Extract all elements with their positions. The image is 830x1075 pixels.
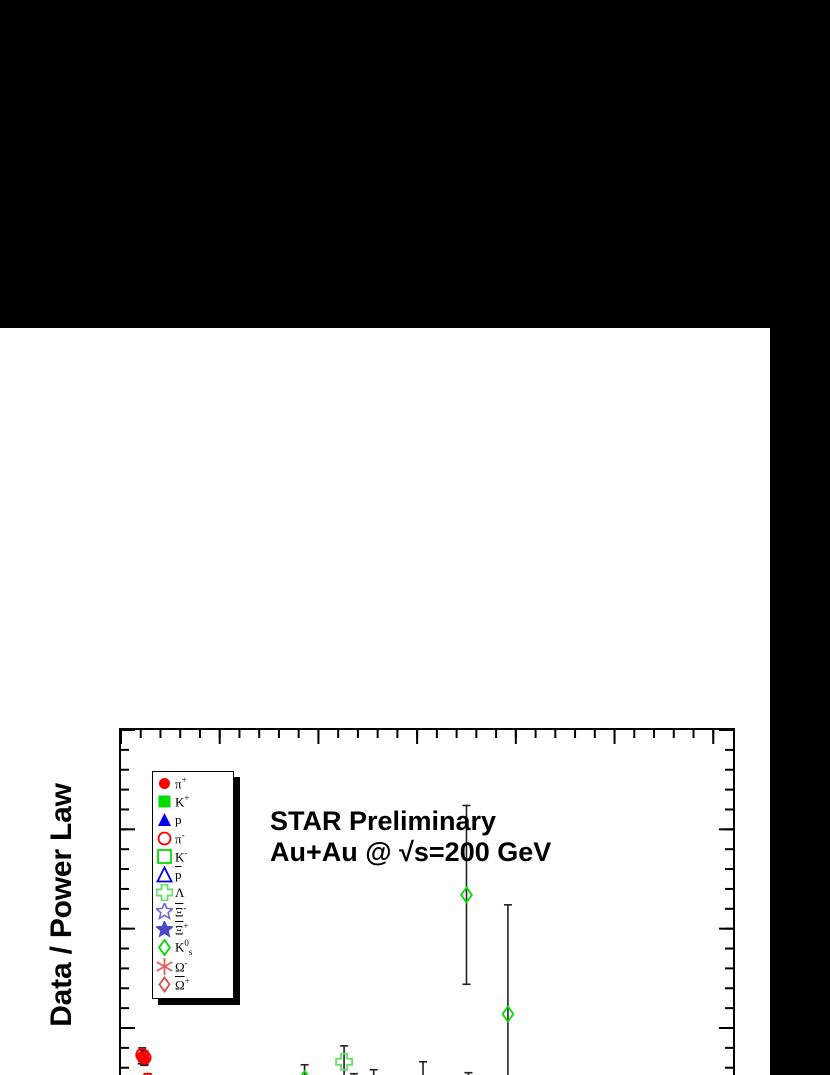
star-open-icon <box>156 903 173 920</box>
legend-label: Ξ+ <box>175 922 188 936</box>
legend-item-K0s[interactable]: K0s <box>156 939 233 957</box>
legend-label: K- <box>175 849 187 863</box>
legend-label: Ω- <box>175 959 188 973</box>
legend-label: Ω+ <box>175 977 190 991</box>
legend-item-pi+[interactable]: π+ <box>156 774 233 792</box>
legend-item-Omega-[interactable]: Ω- <box>156 957 233 975</box>
asterisk-icon <box>156 958 173 975</box>
y-axis-title: Data / Power Law <box>45 725 79 1075</box>
legend-label: K+ <box>175 794 189 808</box>
legend-item-p[interactable]: p <box>156 811 233 829</box>
legend-item-pbar[interactable]: p <box>156 865 233 883</box>
legend-box: π+K+pπ-K-pΛΞ-Ξ+K0sΩ-Ω+ <box>152 771 234 999</box>
annotation-text: STAR Preliminary Au+Au @ √s=200 GeV <box>270 806 551 869</box>
annotation-line-1: STAR Preliminary <box>270 806 551 837</box>
legend-label: π+ <box>175 776 187 790</box>
legend-item-Xi-[interactable]: Ξ- <box>156 902 233 920</box>
legend-item-Xibar+[interactable]: Ξ+ <box>156 920 233 938</box>
legend-item-K+[interactable]: K+ <box>156 792 233 810</box>
root-canvas: Data / Power Law mT (GeV/c) 00.511.522.5… <box>0 328 770 1075</box>
legend-label: p <box>175 813 182 826</box>
legend-item-pi-[interactable]: π- <box>156 829 233 847</box>
square-open-icon <box>156 848 173 865</box>
annotation-line-2: Au+Au @ √s=200 GeV <box>270 837 551 868</box>
series-K0s <box>206 887 513 1075</box>
square-filled-icon <box>156 793 173 810</box>
legend-item-Lambda[interactable]: Λ <box>156 884 233 902</box>
circle-filled-icon <box>156 775 173 792</box>
legend-label: Ξ- <box>175 904 186 918</box>
diamond-open-icon <box>156 939 173 956</box>
legend-item-K-[interactable]: K- <box>156 847 233 865</box>
triangle-filled-icon <box>156 811 173 828</box>
series-Lambda <box>241 1054 717 1075</box>
circle-open-icon <box>156 830 173 847</box>
legend-label: π- <box>175 831 185 845</box>
star-filled-icon <box>156 921 173 938</box>
legend-label: K0s <box>175 939 192 957</box>
triangle-open-icon <box>156 866 173 883</box>
legend-label: p <box>175 868 182 881</box>
legend-label: Λ <box>175 886 184 899</box>
diamond-open-red-icon <box>156 976 173 993</box>
cross-open-icon <box>156 884 173 901</box>
legend-item-Omegabar+[interactable]: Ω+ <box>156 975 233 993</box>
figure-canvas: Data / Power Law mT (GeV/c) 00.511.522.5… <box>0 0 830 1075</box>
